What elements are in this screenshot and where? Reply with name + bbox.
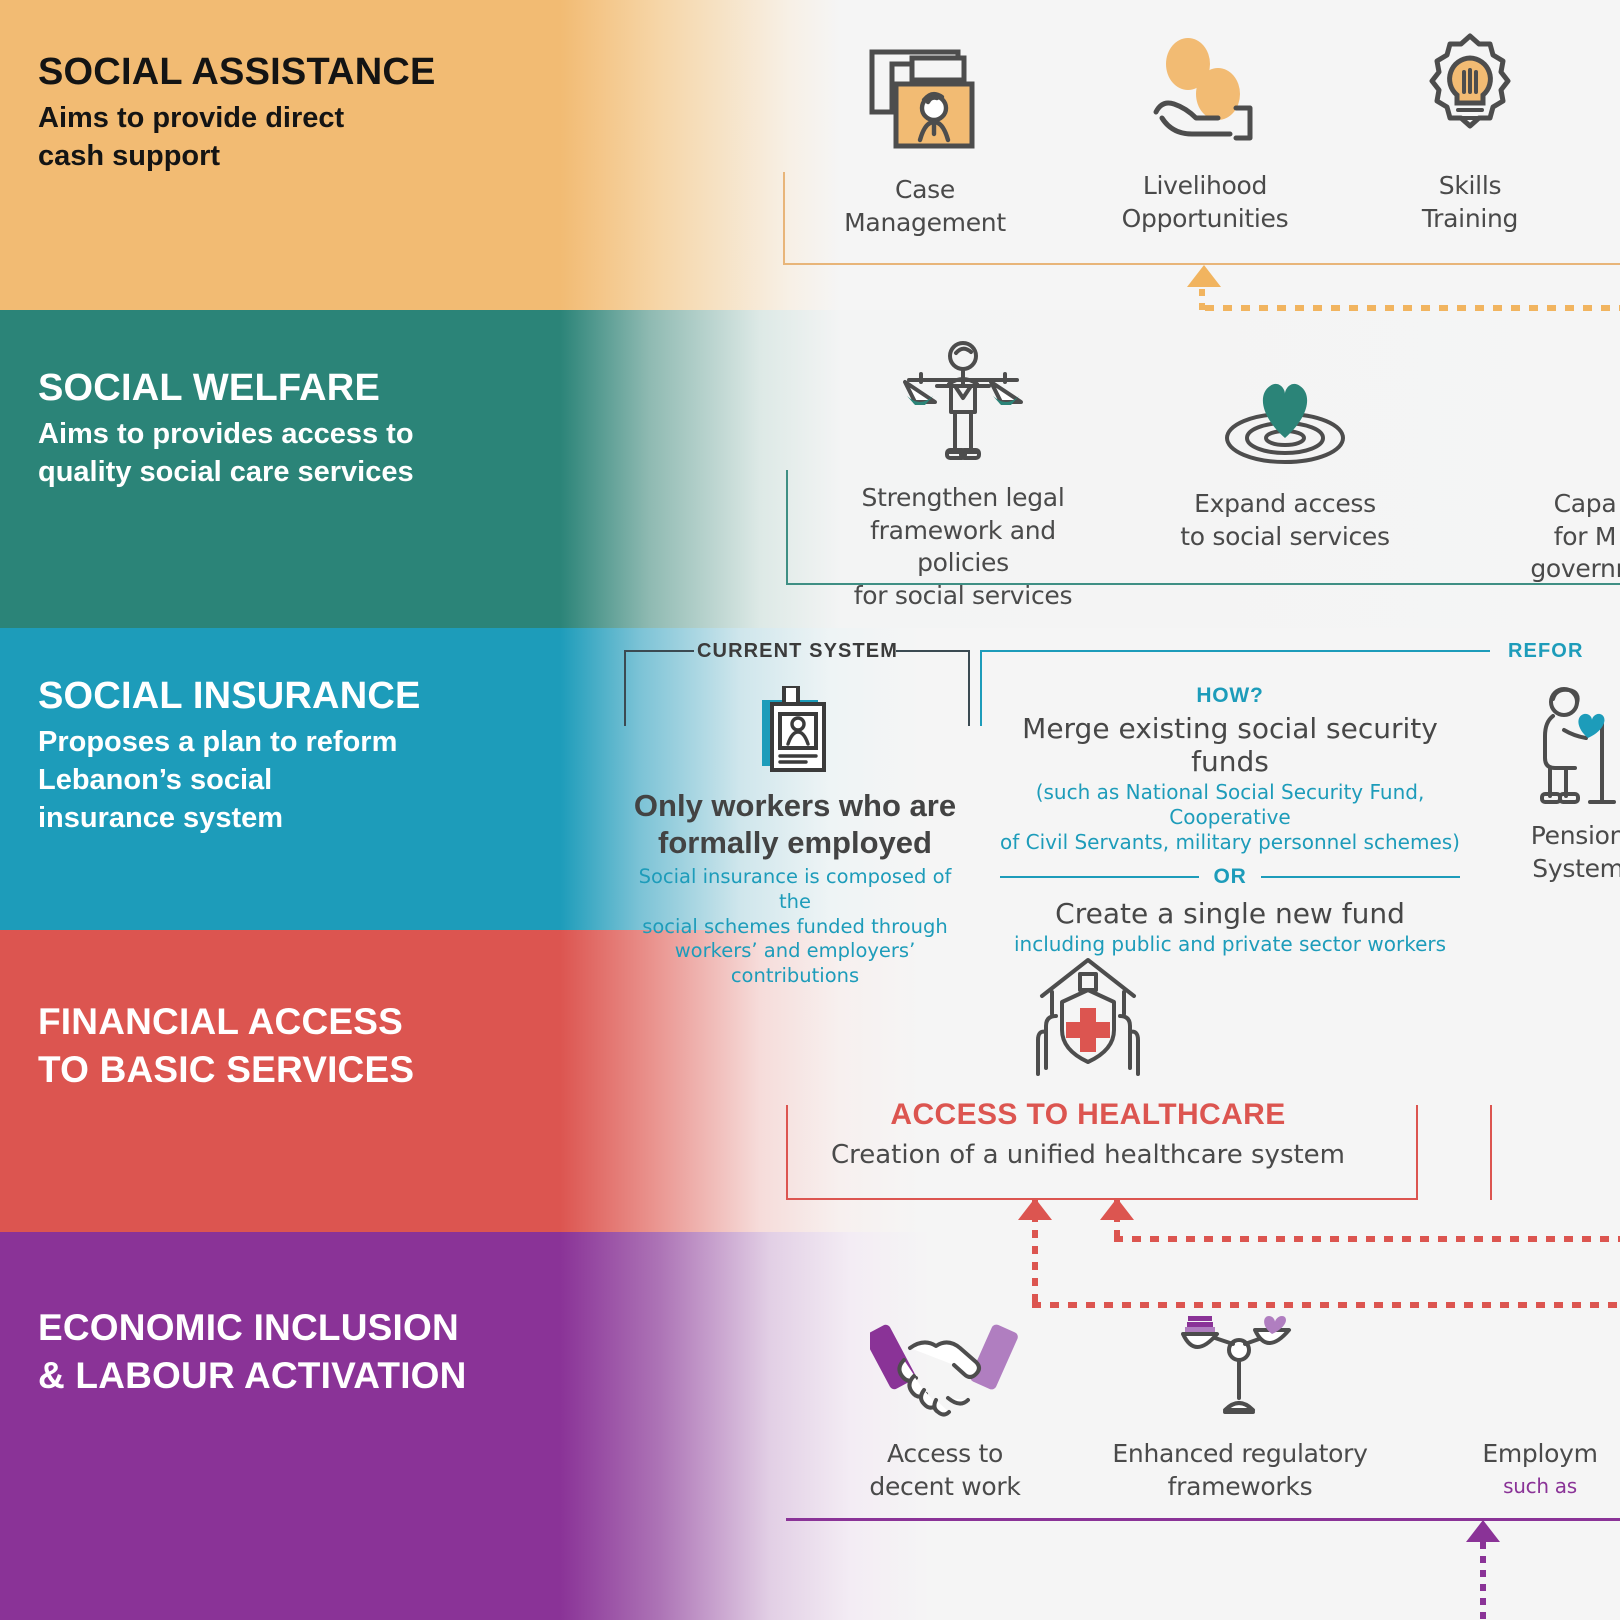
item-strengthen-legal-framework: Strengthen legal framework and policies … — [838, 338, 1088, 612]
item-caption: Livelihood Opportunities — [1080, 170, 1330, 235]
bracket-left-edge-financial-2 — [1490, 1105, 1492, 1200]
dotted-line-economic-up — [1480, 1542, 1486, 1620]
band-subtitle-assistance: Aims to provide direct cash support — [38, 100, 436, 175]
band-label-economic: ECONOMIC INCLUSION & LABOUR ACTIVATION — [38, 1304, 467, 1408]
healthcare-subtitle: Creation of a unified healthcare system — [818, 1140, 1358, 1170]
hand-coins-icon — [1080, 30, 1330, 156]
item-access-decent-work: Access to decent work — [820, 1312, 1070, 1503]
arrow-up-assistance — [1187, 265, 1221, 287]
or-rule-left — [1000, 876, 1199, 878]
dotted-line-orange-vertical — [1199, 289, 1205, 311]
item-note: such as — [1440, 1473, 1620, 1499]
band-title-welfare: SOCIAL WELFARE — [38, 368, 414, 408]
healthcare-block: ACCESS TO HEALTHCARE Creation of a unifi… — [818, 952, 1358, 1170]
reform-heading: REFOR — [1508, 640, 1584, 663]
dotted-line-red-upper-horizontal — [1114, 1236, 1620, 1242]
scales-books-icon — [1110, 1312, 1370, 1422]
bracket-top-right-current — [896, 650, 970, 652]
item-pension-system: Pension System — [1478, 686, 1620, 885]
employment-icon — [1440, 1312, 1620, 1422]
band-label-insurance: SOCIAL INSURANCE Proposes a plan to refo… — [38, 676, 421, 837]
current-system-block: Only workers who are formally employed S… — [622, 686, 968, 989]
item-case-management: Case Management — [800, 36, 1050, 239]
band-background-economic — [0, 1232, 1620, 1620]
hands-house-cross-icon — [818, 952, 1358, 1082]
item-expand-access: Expand access to social services — [1160, 368, 1410, 553]
reform-how-block: HOW? Merge existing social security fund… — [1000, 684, 1460, 957]
dotted-line-red-right-vertical — [1114, 1198, 1120, 1240]
current-system-title: Only workers who are formally employed — [622, 788, 968, 861]
band-title-economic: ECONOMIC INCLUSION & LABOUR ACTIVATION — [38, 1304, 467, 1400]
item-capacity-building: Capa for M governm — [1470, 368, 1620, 586]
bracket-left-reform — [980, 650, 982, 726]
band-label-welfare: SOCIAL WELFARE Aims to provides access t… — [38, 368, 414, 492]
item-caption: Case Management — [800, 174, 1050, 239]
band-title-assistance: SOCIAL ASSISTANCE — [38, 52, 436, 92]
or-divider: OR — [1000, 865, 1460, 889]
bracket-left-edge-financial — [786, 1105, 788, 1200]
item-caption: Skills Training — [1345, 170, 1595, 235]
item-caption: Expand access to social services — [1160, 488, 1410, 553]
infographic-canvas: SOCIAL ASSISTANCE Aims to provide direct… — [0, 0, 1620, 1620]
or-rule-right — [1261, 876, 1460, 878]
reform-option-b: Create a single new fund — [1000, 897, 1460, 930]
id-badge-icon — [622, 686, 968, 778]
item-livelihood-opportunities: Livelihood Opportunities — [1080, 30, 1330, 235]
item-caption: Enhanced regulatory frameworks — [1110, 1438, 1370, 1503]
case-folder-icon — [800, 36, 1050, 156]
dotted-line-red-left-vertical — [1032, 1198, 1038, 1308]
bracket-top-left-current — [624, 650, 694, 652]
band-subtitle-insurance: Proposes a plan to reform Lebanon’s soci… — [38, 724, 421, 837]
bracket-left-edge-assistance — [783, 172, 785, 265]
item-employment: Employm such as — [1440, 1312, 1620, 1499]
current-system-heading: CURRENT SYSTEM — [697, 640, 898, 663]
bracket-financial-right — [1490, 1105, 1620, 1200]
reform-option-a: Merge existing social security funds — [1000, 712, 1460, 778]
band-social-assistance: SOCIAL ASSISTANCE Aims to provide direct… — [0, 0, 1620, 310]
item-skills-training: Skills Training — [1345, 26, 1595, 235]
item-caption: Employm — [1440, 1438, 1620, 1471]
item-caption: Strengthen legal framework and policies … — [838, 482, 1088, 612]
heart-target-icon — [1160, 368, 1410, 466]
band-label-assistance: SOCIAL ASSISTANCE Aims to provide direct… — [38, 52, 436, 176]
band-title-financial: FINANCIAL ACCESS TO BASIC SERVICES — [38, 998, 414, 1094]
dotted-line-red-lower-horizontal — [1032, 1302, 1620, 1308]
or-label: OR — [1213, 865, 1246, 889]
bracket-right-edge-financial — [1416, 1105, 1418, 1200]
handshake-icon — [820, 1312, 1070, 1422]
arrow-up-economic — [1466, 1520, 1500, 1542]
item-caption: Capa for M governm — [1470, 488, 1620, 586]
item-enhanced-regulatory-frameworks: Enhanced regulatory frameworks — [1110, 1312, 1370, 1503]
justice-scales-person-icon — [838, 338, 1088, 464]
reform-option-a-note: (such as National Social Security Fund, … — [1000, 780, 1460, 855]
band-title-insurance: SOCIAL INSURANCE — [38, 676, 421, 716]
elderly-heart-icon — [1478, 686, 1620, 806]
item-caption: Pension System — [1478, 820, 1620, 885]
bracket-top-reform — [980, 650, 1490, 652]
capacity-icon — [1470, 368, 1620, 466]
band-label-financial: FINANCIAL ACCESS TO BASIC SERVICES — [38, 998, 414, 1102]
bracket-right-current — [968, 650, 970, 726]
dotted-line-orange-horizontal — [1205, 305, 1620, 311]
item-caption: Access to decent work — [820, 1438, 1070, 1503]
bracket-left-edge-welfare — [786, 470, 788, 585]
band-economic-inclusion: ECONOMIC INCLUSION & LABOUR ACTIVATION — [0, 1232, 1620, 1620]
gear-lightbulb-icon — [1345, 26, 1595, 156]
band-social-insurance: SOCIAL INSURANCE Proposes a plan to refo… — [0, 628, 1620, 930]
band-subtitle-welfare: Aims to provides access to quality socia… — [38, 416, 414, 491]
band-social-welfare: SOCIAL WELFARE Aims to provides access t… — [0, 310, 1620, 628]
how-label: HOW? — [1000, 684, 1460, 708]
healthcare-title: ACCESS TO HEALTHCARE — [818, 1098, 1358, 1132]
